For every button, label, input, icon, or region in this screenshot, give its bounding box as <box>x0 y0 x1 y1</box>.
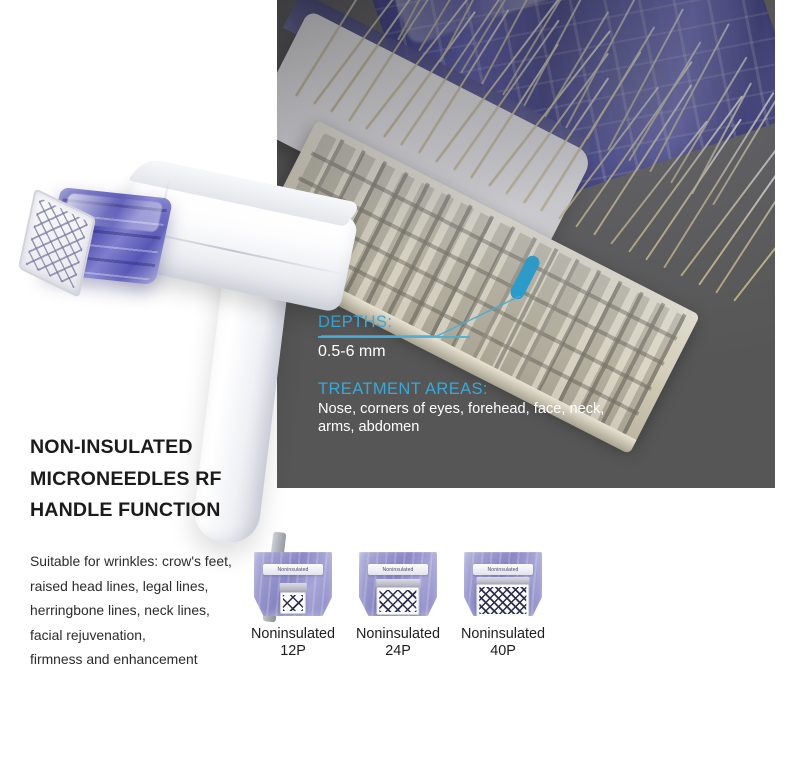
cartridge-needle-grid <box>280 592 306 614</box>
cartridge-body: Noninsulated <box>464 548 542 616</box>
treatment-areas-block: TREATMENT AREAS: Nose, corners of eyes, … <box>318 380 604 437</box>
poster-canvas: DEPTHS: 0.5-6 mm TREATMENT AREAS: Nose, … <box>0 0 805 767</box>
cartridge-caption-line2: 40P <box>460 643 546 660</box>
headline-line-1: NON-INSULATED <box>30 432 270 464</box>
cartridge-option-40p[interactable]: Noninsulated Noninsulated 40P <box>460 548 546 659</box>
description-line-5: firmness and enhancement <box>30 647 255 672</box>
product-description: Suitable for wrinkles: crow's feet, rais… <box>30 549 255 672</box>
cartridge-option-24p[interactable]: Noninsulated Noninsulated 24P <box>355 548 441 659</box>
cartridge-caption-line1: Noninsulated <box>251 626 335 642</box>
cartridge-caption: Noninsulated 12P <box>250 626 336 659</box>
headline-line-3: HANDLE FUNCTION <box>30 495 270 527</box>
cartridge-caption-line2: 12P <box>250 643 336 660</box>
cartridge-strip-text: Noninsulated <box>488 567 519 573</box>
description-line-3: herringbone lines, neck lines, <box>30 598 255 623</box>
page-title: NON-INSULATED MICRONEEDLES RF HANDLE FUN… <box>30 432 270 527</box>
cartridge-caption-line2: 24P <box>355 643 441 660</box>
treatment-areas-value-line1: Nose, corners of eyes, forehead, face, n… <box>318 401 604 419</box>
cartridge-tab-left <box>370 537 389 551</box>
cartridge-caption: Noninsulated 40P <box>460 626 546 659</box>
cartridge-body: Noninsulated <box>359 548 437 616</box>
cartridge-option-12p[interactable]: Noninsulated Noninsulated 12P <box>250 548 336 659</box>
cartridge-label-strip: Noninsulated <box>368 564 429 575</box>
cartridge-needle-grid <box>476 584 529 617</box>
cartridge-caption: Noninsulated 24P <box>355 626 441 659</box>
needle-grid-mesh <box>283 595 303 611</box>
headline-line-2: MICRONEEDLES RF <box>30 464 270 496</box>
cartridge-caption-line1: Noninsulated <box>356 626 440 642</box>
cartridge-tab-right <box>407 537 426 551</box>
cartridge-strip-text: Noninsulated <box>383 567 414 573</box>
needle-face-mesh <box>26 198 88 288</box>
cartridge-variants-row: Noninsulated Noninsulated 12P <box>250 548 580 698</box>
cartridge-label-strip: Noninsulated <box>263 564 324 575</box>
needle-grid-mesh <box>379 590 416 612</box>
cartridge-caption-line1: Noninsulated <box>461 626 545 642</box>
description-line-4: facial rejuvenation, <box>30 623 255 648</box>
cartridge-needle-grid <box>376 587 419 615</box>
cartridge-tabs <box>359 537 437 551</box>
treatment-areas-value-line2: arms, abdomen <box>318 419 604 437</box>
cartridge-tab-left <box>475 537 494 551</box>
cartridge-tabs <box>464 537 542 551</box>
description-line-2: raised head lines, legal lines, <box>30 574 255 599</box>
cartridge-tab-right <box>512 537 531 551</box>
description-line-1: Suitable for wrinkles: crow's feet, <box>30 549 255 574</box>
cartridge-body: Noninsulated <box>254 548 332 616</box>
cartridge-label-strip: Noninsulated <box>473 564 534 575</box>
treatment-areas-label: TREATMENT AREAS: <box>318 380 604 399</box>
needle-grid-mesh <box>479 587 526 614</box>
cartridge-strip-text: Noninsulated <box>278 567 309 573</box>
